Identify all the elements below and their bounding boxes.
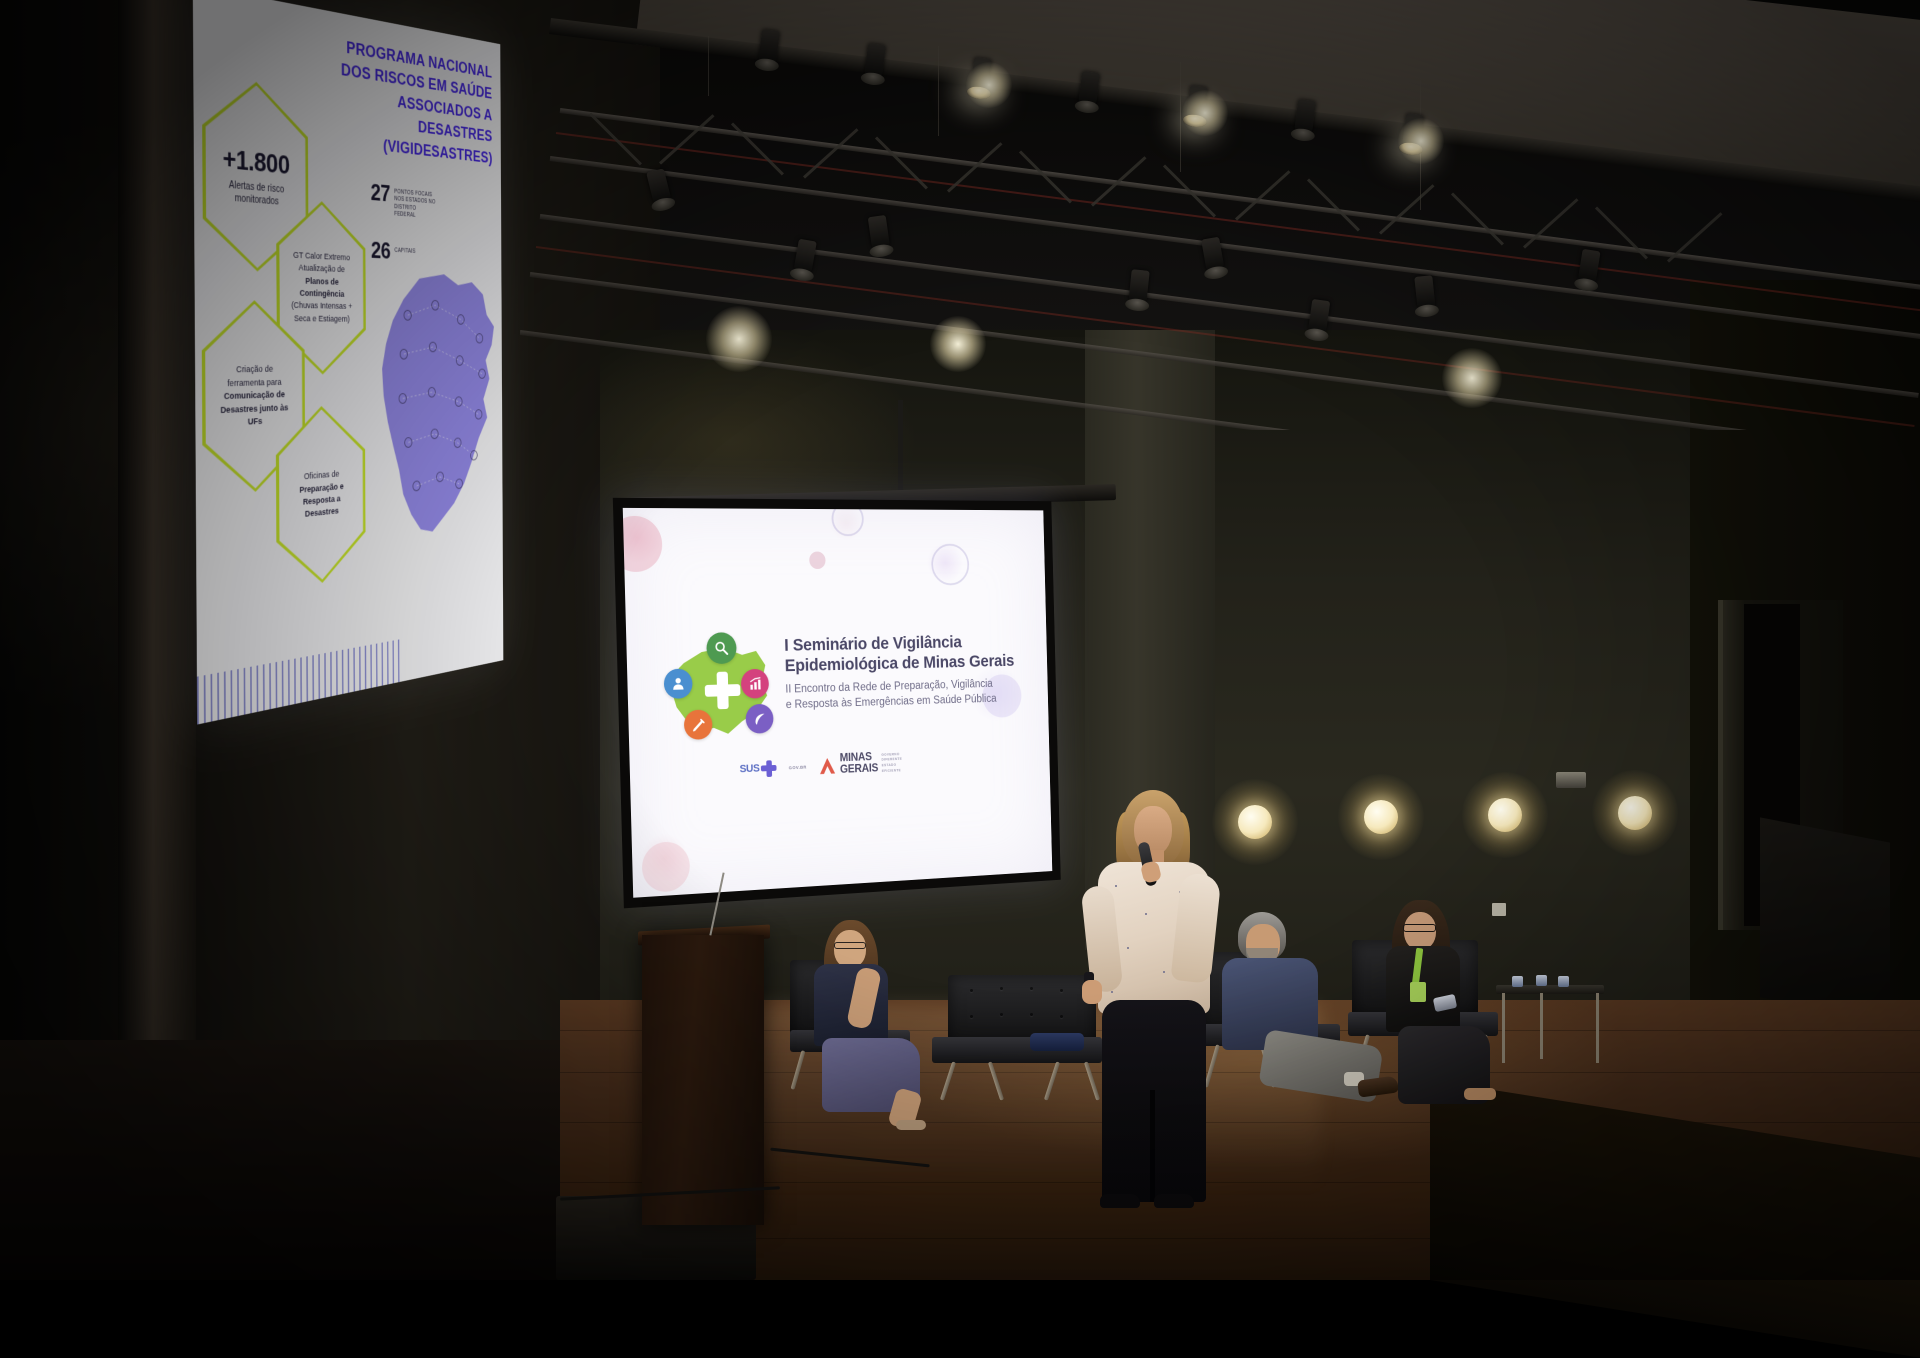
seated-panelist-right — [1368, 900, 1508, 1120]
health-worker-glyph — [670, 676, 686, 692]
stage-spotlight — [868, 215, 891, 251]
stat-26-label: Capitais — [394, 238, 415, 256]
glasses-icon — [1403, 924, 1436, 932]
side-table[interactable] — [1496, 985, 1604, 1063]
leaf-icon — [745, 704, 773, 734]
main-projection-screen: I Seminário de Vigilância Epidemiológica… — [623, 508, 1053, 898]
hexagon-1-number: +1.800 — [223, 143, 290, 181]
seated-panelist-left — [800, 920, 930, 1120]
stage-spotlight — [1308, 299, 1331, 335]
stage-spotlight — [1577, 249, 1600, 285]
glasses-icon — [834, 942, 866, 949]
minas-triangle-icon — [818, 756, 836, 776]
wall-sconce-1 — [1238, 805, 1272, 839]
badge — [1410, 982, 1426, 1002]
sconce-bulb — [1238, 805, 1272, 839]
stage-spotlight — [1128, 269, 1149, 305]
hanging-wire — [938, 46, 939, 136]
sus-logo-text: SUS — [739, 763, 759, 776]
syringe-icon — [684, 709, 713, 740]
auditorium-scene: PROGRAMA NACIONAL DOS RISCOS EM SAÚDE AS… — [0, 0, 1920, 1280]
chair-leg — [988, 1061, 1004, 1100]
gov-tag-label: GOV.BR — [789, 764, 807, 770]
stage-spotlight — [1294, 99, 1316, 135]
minas-gerais-wordmark: MINAS GERAIS — [840, 752, 879, 776]
leaf-glyph — [752, 711, 766, 726]
stage-spotlight — [793, 239, 817, 276]
side-table-leg — [1540, 993, 1543, 1059]
cup[interactable] — [1536, 975, 1547, 986]
spotlight-glow — [1442, 348, 1502, 408]
main-slide-title-line2: Epidemiológica de Minas Gerais — [785, 651, 1023, 677]
sconce-bulb — [1364, 800, 1398, 834]
mg-word-line2: GERAIS — [840, 764, 878, 777]
deco-dot — [809, 552, 826, 569]
minas-gerais-logo: MINAS GERAIS GOVERNO DIFERENTE ESTADO EF… — [818, 751, 902, 777]
hanging-wire — [1180, 62, 1181, 172]
wall-sconce-2 — [1364, 800, 1398, 834]
truss-brace — [1451, 192, 1504, 245]
ceiling-lighting-truss — [520, 0, 1920, 430]
chair-leg — [940, 1061, 956, 1100]
hexagon-2-line4: Contingência — [300, 287, 345, 301]
slide-logo-row: SUS GOV.BR MINAS GERAIS GOVERNO DIFERENT… — [739, 743, 962, 787]
seated-panelist-center — [1218, 912, 1368, 1122]
cup[interactable] — [1512, 976, 1523, 987]
brazil-map-svg — [380, 268, 500, 564]
deco-circle-pink — [623, 516, 663, 572]
stat-26-number: 26 — [371, 236, 390, 265]
presenter-leg-gap — [1150, 1090, 1155, 1202]
podium-lectern[interactable] — [642, 935, 764, 1225]
sconce-bulb — [1618, 796, 1652, 830]
presenter-shoe-right — [1154, 1194, 1194, 1208]
stat-26: 26 Capitais — [371, 236, 416, 266]
syringe-glyph — [691, 717, 706, 732]
spotlight-glow — [966, 62, 1012, 108]
sus-logo: SUS — [739, 760, 777, 778]
hexagon-3-line5: UFs — [248, 415, 262, 429]
brazil-map-graphic — [380, 268, 500, 564]
presenter-left-hand — [1082, 980, 1102, 1004]
wall-sconce-4 — [1618, 796, 1652, 830]
spotlight-glow — [1398, 118, 1444, 164]
spotlight-glow — [1182, 90, 1228, 136]
magnifier-glyph — [714, 640, 729, 656]
wall-mounted-box — [1556, 772, 1586, 788]
stat-27: 27 Pontos focais nos estados no Distrito… — [371, 178, 438, 222]
deco-ring — [931, 544, 970, 586]
stat-27-number: 27 — [371, 178, 390, 208]
cup[interactable] — [1558, 976, 1569, 987]
sus-cross-icon — [761, 760, 777, 777]
hexagon-4-line4: Desastres — [305, 505, 339, 521]
side-table-leg — [1596, 993, 1599, 1063]
hanging-wire — [708, 36, 709, 96]
truss-brace — [731, 122, 784, 175]
presenter-shoe-left — [1100, 1194, 1140, 1208]
stat-27-label: Pontos focais nos estados no Distrito Fe… — [394, 180, 438, 221]
left-slide-content: PROGRAMA NACIONAL DOS RISCOS EM SAÚDE AS… — [193, 0, 504, 725]
mg-slogan-line4: EFICIENTE — [882, 768, 903, 774]
standing-presenter — [1080, 790, 1230, 1230]
minas-gerais-icon-cluster — [661, 634, 776, 750]
deco-circle-rose — [641, 841, 690, 893]
hexagon-1-label: Alertas de risco monitorados — [211, 177, 302, 210]
truss-brace — [1379, 184, 1435, 234]
main-slide-title: I Seminário de Vigilância Epidemiológica… — [784, 631, 1022, 677]
panelist-shoe — [1464, 1088, 1496, 1100]
wall-sconce-3 — [1488, 798, 1522, 832]
main-slide-content: I Seminário de Vigilância Epidemiológica… — [623, 508, 1053, 898]
medical-cross-icon — [704, 671, 740, 709]
truss-brace — [1595, 206, 1648, 259]
barcelona-chair-center[interactable] — [932, 975, 1102, 1095]
stage-spotlight — [1414, 275, 1435, 311]
mg-slogan: GOVERNO DIFERENTE ESTADO EFICIENTE — [881, 752, 902, 775]
hexagon-3-line1: Criação de — [236, 363, 273, 377]
truss-brace — [875, 136, 928, 189]
spotlight-glow — [930, 316, 986, 372]
deco-ring — [831, 508, 864, 536]
chair-leg — [1044, 1061, 1060, 1100]
hexagon-2-line6: Seca e Estiagem) — [294, 313, 350, 326]
bar-chart-glyph — [748, 676, 762, 691]
hexagon-2-line5: (Chuvas Intensas + — [291, 300, 352, 314]
stage-spotlight — [1078, 71, 1100, 107]
hexagon-2-line3: Planos de — [305, 275, 338, 289]
spotlight-glow — [706, 306, 772, 372]
truss-brace — [1235, 170, 1291, 220]
sconce-bulb — [1488, 798, 1522, 832]
panelist-face — [834, 930, 866, 968]
left-projection-screen: PROGRAMA NACIONAL DOS RISCOS EM SAÚDE AS… — [193, 0, 504, 725]
stage-speaker — [1760, 817, 1890, 1022]
panelist-sandal — [896, 1120, 926, 1130]
folded-jacket — [1030, 1033, 1084, 1051]
hexagon-infographic: +1.800 Alertas de risco monitorados GT C… — [200, 64, 394, 672]
truss-brace — [1307, 178, 1360, 231]
